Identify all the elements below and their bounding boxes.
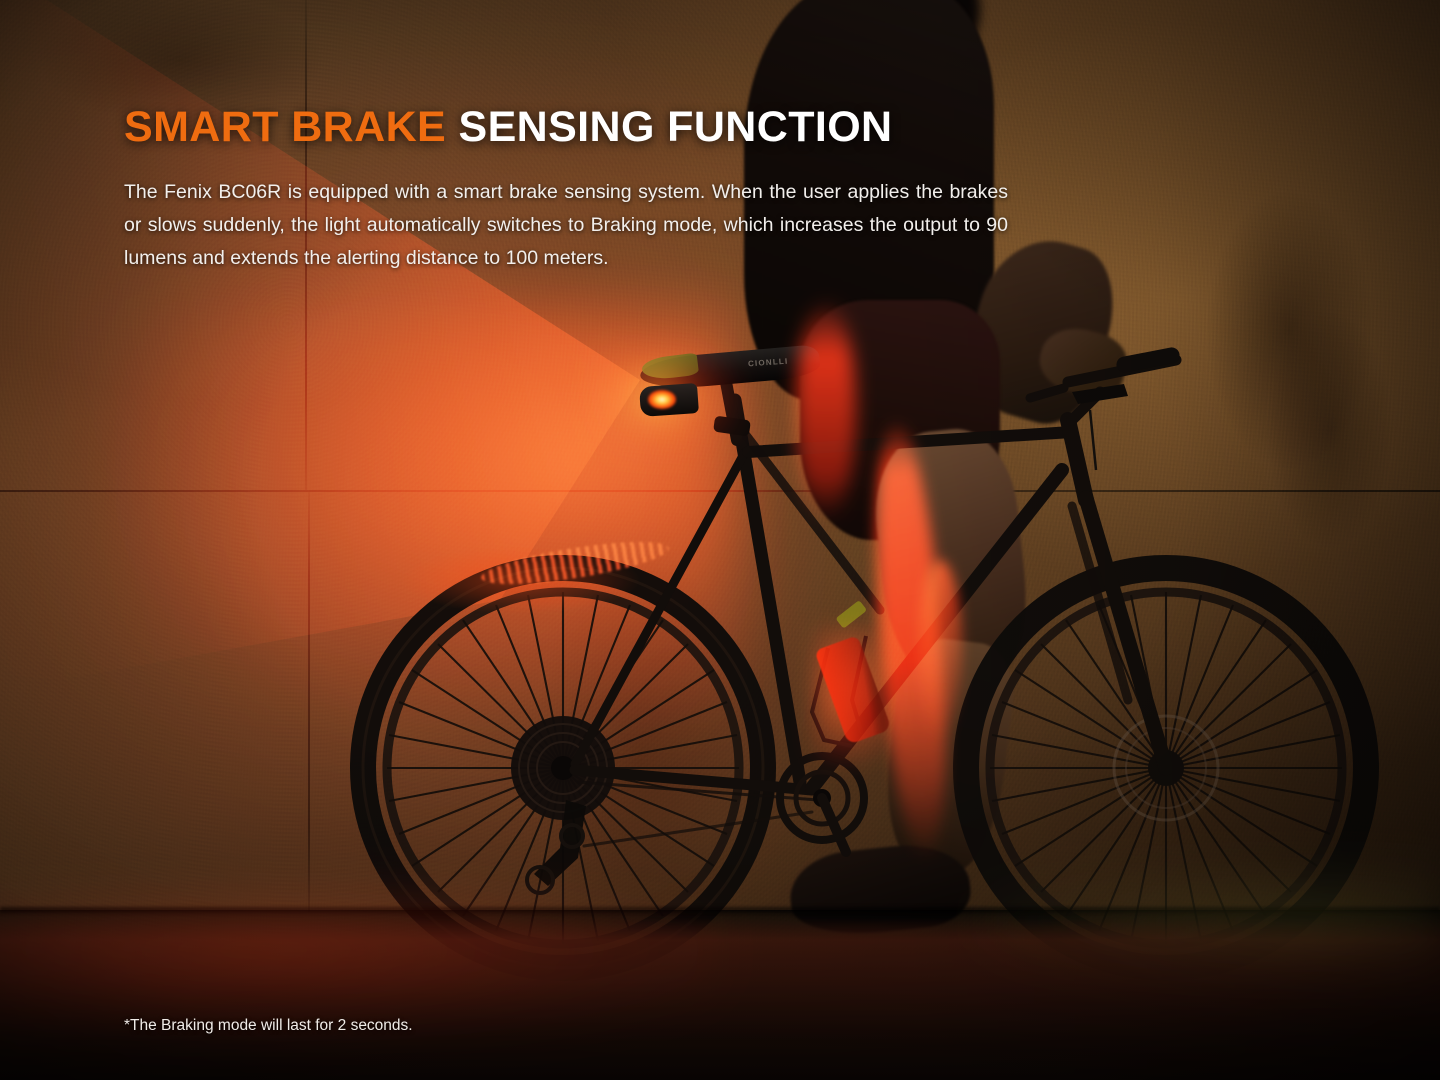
page-title: SMART BRAKE SENSING FUNCTION	[124, 104, 1044, 150]
headline-accent: SMART BRAKE	[124, 103, 446, 151]
body-paragraph: The Fenix BC06R is equipped with a smart…	[124, 176, 1008, 275]
marketing-banner: CIONLLI SMART BRAKE SENSING FUNCTION The…	[0, 0, 1440, 1080]
footnote: *The Braking mode will last for 2 second…	[124, 1017, 413, 1035]
copy-block: SMART BRAKE SENSING FUNCTION The Fenix B…	[124, 104, 1044, 275]
headline-plain: SENSING FUNCTION	[458, 103, 892, 151]
